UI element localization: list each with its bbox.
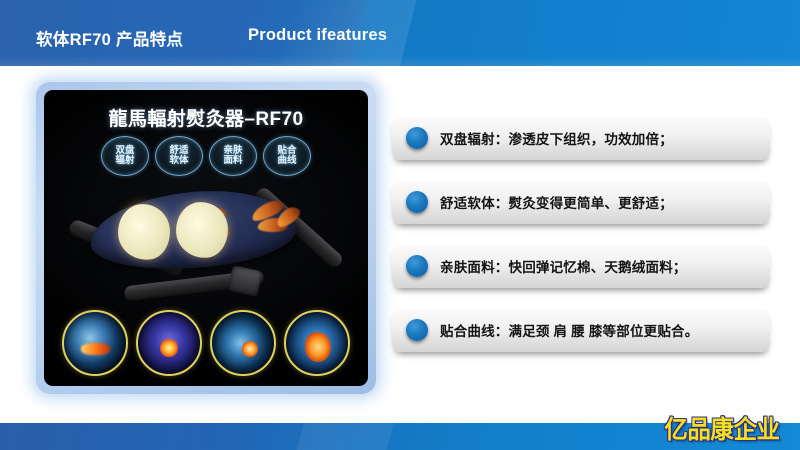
feature-badge-dual-plate: 双盘 辐射 (101, 136, 149, 176)
neck-anatomy-circle (62, 310, 128, 376)
heat-glow (160, 339, 177, 356)
footer-diagonal-accent (294, 423, 395, 450)
feature-list: 双盘辐射：渗透皮下组织，功效加倍； 舒适软体：熨灸变得更简单、更舒适； 亲肤面料… (392, 116, 770, 352)
heat-glow (81, 343, 110, 355)
heat-glow (305, 332, 331, 362)
header-banner: 软体RF70 产品特点 Product ifeatures (0, 0, 800, 66)
feature-badge-skin-fabric: 亲肤 面料 (209, 136, 257, 176)
belt-buckle (228, 265, 263, 297)
feature-item-dual-plate-radiation[interactable]: 双盘辐射：渗透皮下组织，功效加倍； (392, 116, 770, 160)
page-title-english: Product ifeatures (248, 26, 387, 45)
feature-item-label: 双盘辐射：渗透皮下组织，功效加倍； (440, 128, 673, 148)
bullet-dot-icon (406, 319, 428, 341)
company-logo: 亿品康企业 (665, 410, 780, 446)
feature-item-label: 贴合曲线：满足颈 肩 腰 膝等部位更贴合。 (440, 320, 698, 340)
knee-joint-anatomy-circle (210, 310, 276, 376)
feature-badge-soft-body: 舒适 软体 (155, 136, 203, 176)
bullet-dot-icon (406, 127, 428, 149)
heat-glow (242, 341, 258, 357)
feature-item-label: 舒适软体：熨灸变得更简单、更舒适； (440, 192, 673, 212)
feature-badge-line2: 辐射 (115, 156, 134, 166)
feature-item-label: 亲肤面料：快回弹记忆棉、天鹅绒面料； (440, 256, 687, 276)
product-feature-badge-row: 双盘 辐射 舒适 软体 亲肤 面料 贴合 曲线 (44, 136, 368, 176)
product-image-panel: 龍馬輻射熨灸器–RF70 双盘 辐射 舒适 软体 亲肤 面料 贴合 曲线 (36, 82, 376, 394)
heating-belt-product-photo (44, 182, 368, 312)
feature-item-body-fitting-curve[interactable]: 贴合曲线：满足颈 肩 腰 膝等部位更贴合。 (392, 308, 770, 352)
feature-item-skin-friendly-fabric[interactable]: 亲肤面料：快回弹记忆棉、天鹅绒面料； (392, 244, 770, 288)
product-image-inner: 龍馬輻射熨灸器–RF70 双盘 辐射 舒适 软体 亲肤 面料 贴合 曲线 (44, 90, 368, 386)
feature-badge-line2: 软体 (169, 156, 188, 166)
header-bottom-sheen (0, 56, 800, 66)
page-title-chinese: 软体RF70 产品特点 (36, 26, 183, 50)
bullet-dot-icon (406, 191, 428, 213)
feature-badge-line2: 面料 (223, 156, 242, 166)
product-name-title: 龍馬輻射熨灸器–RF70 (44, 104, 368, 131)
bullet-dot-icon (406, 255, 428, 277)
back-spine-anatomy-circle (136, 310, 202, 376)
feature-badge-fit-curve: 贴合 曲线 (263, 136, 311, 176)
body-area-circle-row (44, 310, 368, 376)
abdomen-anatomy-circle (284, 310, 350, 376)
feature-badge-line2: 曲线 (277, 156, 296, 166)
feature-item-comfortable-soft-body[interactable]: 舒适软体：熨灸变得更简单、更舒适； (392, 180, 770, 224)
